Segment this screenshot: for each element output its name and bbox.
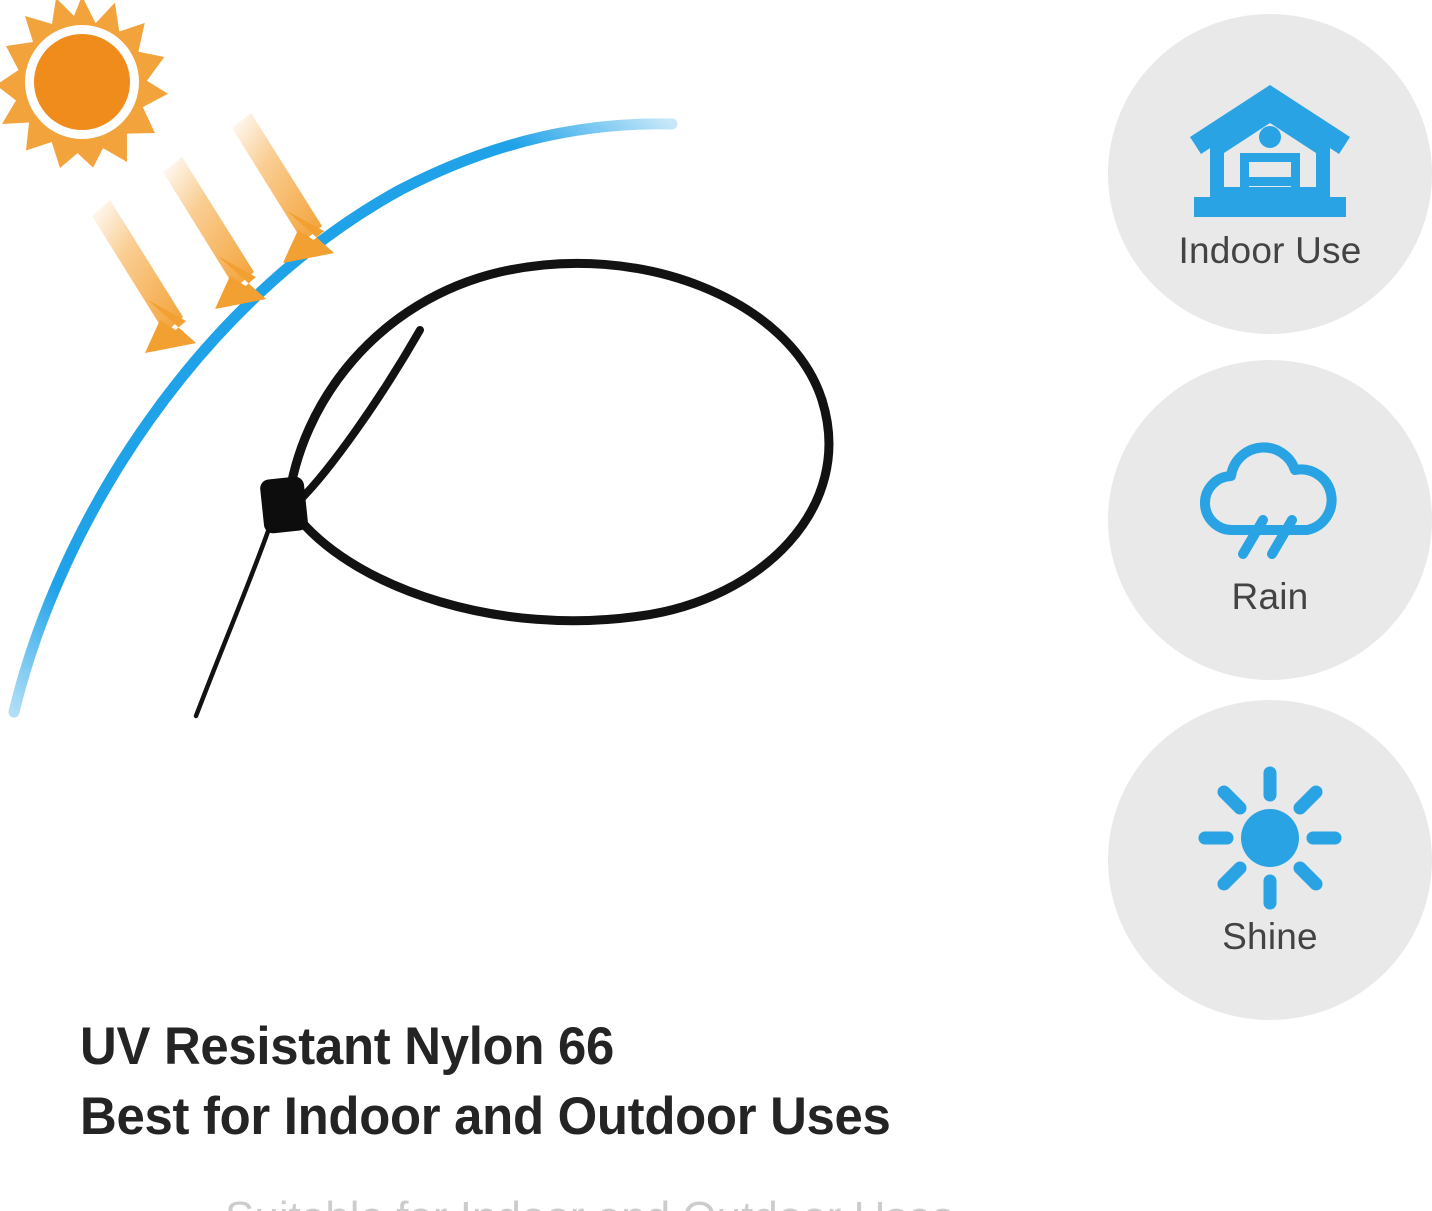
cable-tie-head	[259, 476, 308, 534]
uv-ray-arrows	[92, 113, 334, 353]
feature-badge-rain[interactable]: Rain	[1108, 360, 1432, 680]
uv-ray-arrow-icon	[232, 113, 334, 263]
headline-line-2: Best for Indoor and Outdoor Uses	[80, 1082, 1040, 1152]
uv-ray-arrow-icon	[163, 157, 266, 309]
headline-line-3-clipped: Suitable for Indoor and Outdoor Uses	[225, 1196, 1125, 1211]
feature-badge-label: Rain	[1232, 577, 1309, 618]
sun-rays-icon	[0, 0, 168, 168]
rain-cloud-icon	[1185, 423, 1355, 573]
headline-line-1: UV Resistant Nylon 66	[80, 1012, 1040, 1082]
feature-badge-label: Indoor Use	[1179, 231, 1362, 272]
feature-badge-shine[interactable]: Shine	[1108, 700, 1432, 1020]
house-icon	[1185, 77, 1355, 227]
cable-tie-illustration	[196, 263, 829, 716]
headline-block: UV Resistant Nylon 66 Best for Indoor an…	[80, 1012, 1080, 1152]
feature-badge-indoor-use[interactable]: Indoor Use	[1108, 14, 1432, 334]
feature-badge-label: Shine	[1222, 917, 1318, 958]
sun-icon	[1185, 763, 1355, 913]
headline-line-3-text: Suitable for Indoor and Outdoor Uses	[225, 1196, 1125, 1211]
feature-badge-list: Indoor Use Rain	[1108, 0, 1432, 1020]
product-illustration	[0, 0, 1100, 1000]
uv-ray-arrow-icon	[92, 200, 196, 353]
